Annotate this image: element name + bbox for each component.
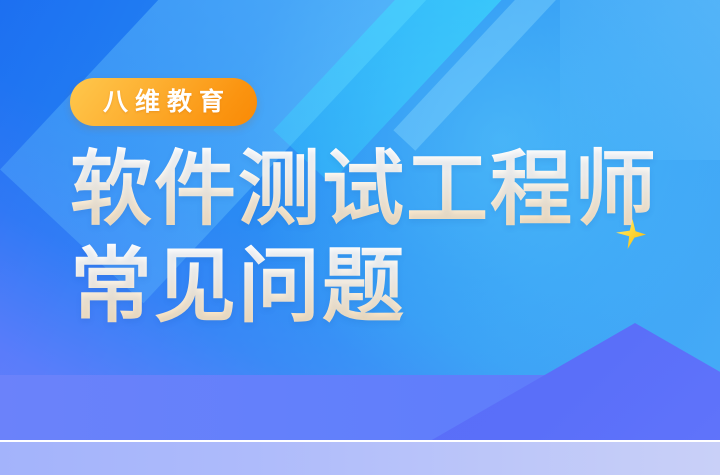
banner-title: 软件测试工程师 常见问题: [70, 146, 658, 331]
bottom-band-slope: [0, 321, 720, 441]
bottom-light-strip: [0, 442, 720, 475]
triangle-shape-decoration: [430, 323, 720, 441]
sparkle-star-icon: [615, 218, 647, 250]
brand-badge[interactable]: 八维教育: [70, 78, 257, 126]
banner-title-line-1: 软件测试工程师: [70, 146, 658, 235]
banner-title-line-2: 常见问题: [70, 243, 658, 332]
brand-badge-label: 八维教育: [96, 90, 231, 115]
promo-banner: 八维教育 软件测试工程师 常见问题: [0, 0, 720, 475]
bottom-purple-band: [0, 375, 720, 441]
banner-content: 八维教育 软件测试工程师 常见问题: [70, 78, 658, 331]
